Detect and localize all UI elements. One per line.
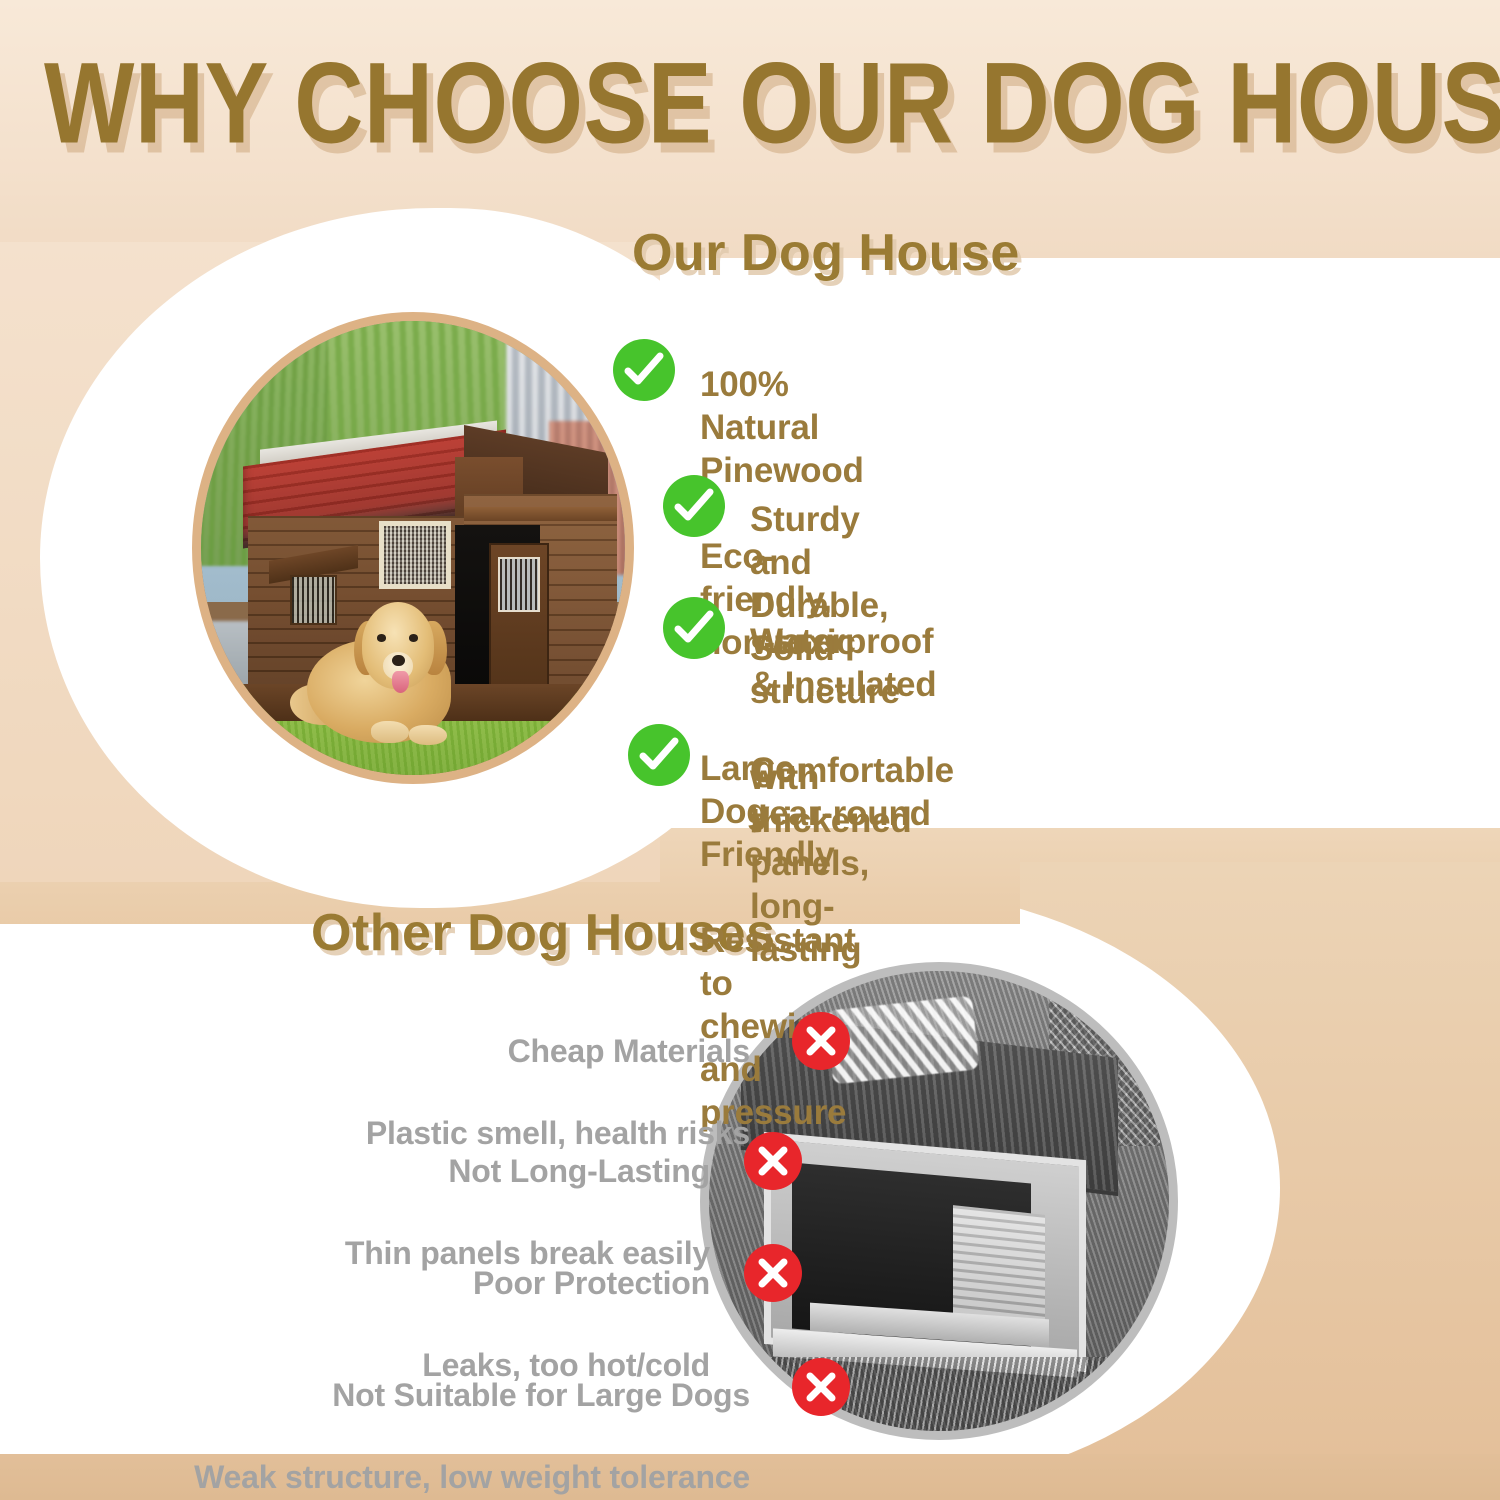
doghouse-side-window bbox=[290, 575, 337, 625]
photo-oval-frame bbox=[192, 312, 634, 784]
title-band: WHY CHOOSE OUR DOG HOUSE?" bbox=[0, 0, 1500, 258]
dog-nose bbox=[392, 655, 405, 667]
con-title: Cheap Materials bbox=[508, 1033, 750, 1069]
con-detail: Weak structure, low weight tolerance bbox=[194, 1459, 750, 1495]
con-text: Not Suitable for Large Dogs Weak structu… bbox=[194, 1334, 750, 1498]
con-title: Poor Protection bbox=[473, 1265, 710, 1301]
pro-title: Waterproof & Insulated bbox=[750, 622, 936, 704]
pro-title: Large Dog Friendly bbox=[700, 749, 835, 874]
check-circle-icon bbox=[663, 475, 725, 537]
dog-paw-left bbox=[371, 721, 409, 744]
page-title: WHY CHOOSE OUR DOG HOUSE?" bbox=[44, 44, 1365, 162]
broken-panel bbox=[953, 1205, 1045, 1325]
doghouse-mesh-window bbox=[379, 521, 451, 589]
doghouse-door-window bbox=[498, 557, 540, 611]
infographic-page: WHY CHOOSE OUR DOG HOUSE?" Our Dog House bbox=[0, 0, 1500, 1500]
check-circle-icon bbox=[663, 597, 725, 659]
photo-scene-ours bbox=[201, 321, 625, 775]
our-dog-house-heading: Our Dog House bbox=[632, 223, 1020, 283]
dog-eye-left bbox=[377, 634, 386, 641]
dry-grass bbox=[709, 1357, 1169, 1431]
x-circle-icon bbox=[792, 1012, 850, 1070]
x-circle-icon bbox=[744, 1244, 802, 1302]
check-circle-icon bbox=[628, 724, 690, 786]
check-circle-icon bbox=[613, 339, 675, 401]
x-circle-icon bbox=[792, 1358, 850, 1416]
x-circle-icon bbox=[744, 1132, 802, 1190]
dog-paw-right bbox=[409, 725, 447, 745]
dog-eye-right bbox=[409, 634, 418, 641]
con-title: Not Suitable for Large Dogs bbox=[332, 1377, 750, 1413]
doghouse-eave bbox=[464, 507, 617, 521]
our-dog-house-photo bbox=[152, 278, 674, 818]
con-title: Not Long-Lasting bbox=[448, 1153, 710, 1189]
dog-tongue bbox=[392, 671, 409, 694]
